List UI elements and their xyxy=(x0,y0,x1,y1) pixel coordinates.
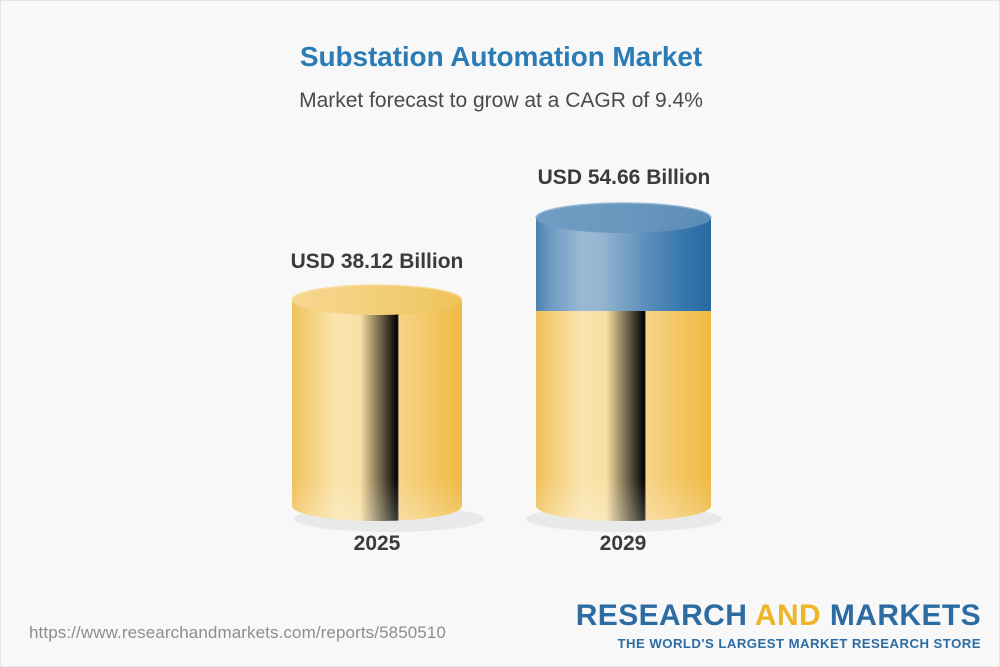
category-label-2025: 2025 xyxy=(277,532,477,556)
bar-2025-base-shading xyxy=(292,479,462,521)
brand-wordmark: RESEARCH AND MARKETS xyxy=(576,601,981,631)
bar-value-label-2025: USD 38.12 Billion xyxy=(227,250,527,274)
bar-2029-base-shading xyxy=(536,479,711,521)
brand-tagline: THE WORLD'S LARGEST MARKET RESEARCH STOR… xyxy=(576,636,981,651)
chart-plot-area: USD 38.12 Billion USD 54.66 Billion 2025… xyxy=(1,1,1000,667)
bar-cylinder-2025[interactable] xyxy=(292,285,462,521)
source-url[interactable]: https://www.researchandmarkets.com/repor… xyxy=(29,623,446,643)
bar-cylinder-2029[interactable] xyxy=(536,203,711,521)
cylinder-bars-svg xyxy=(1,1,1000,667)
category-label-2029: 2029 xyxy=(523,532,723,556)
brand-word-research: RESEARCH xyxy=(576,599,755,632)
brand-logo: RESEARCH AND MARKETS THE WORLD'S LARGEST… xyxy=(576,601,981,651)
brand-word-markets: MARKETS xyxy=(821,599,981,632)
bar-value-label-2029: USD 54.66 Billion xyxy=(474,166,774,190)
brand-word-and: AND xyxy=(755,599,821,632)
chart-poster: Substation Automation Market Market fore… xyxy=(0,0,1000,667)
